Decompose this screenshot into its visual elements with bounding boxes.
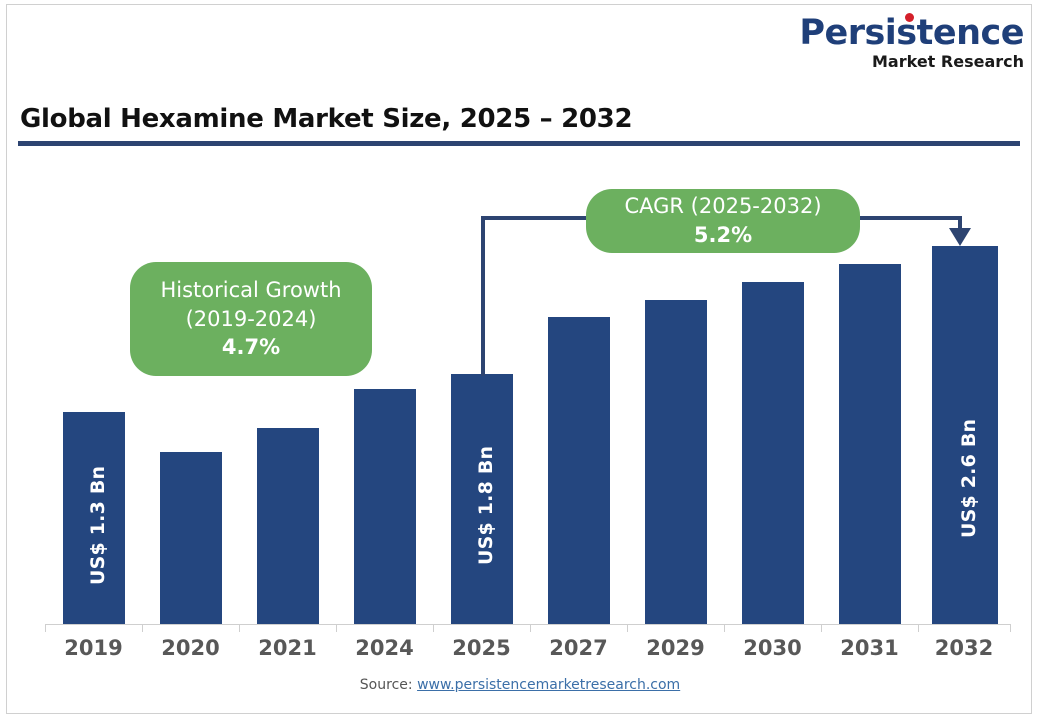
source-link[interactable]: www.persistencemarketresearch.com <box>417 677 680 693</box>
bar-2031 <box>839 264 901 624</box>
x-label-2031: 2031 <box>821 636 918 660</box>
x-axis-tick <box>1010 624 1011 632</box>
x-label-2019: 2019 <box>45 636 142 660</box>
x-label-2024: 2024 <box>336 636 433 660</box>
x-label-2032: 2032 <box>918 636 1010 660</box>
bar-chart: US$ 1.3 Bn US$ 1.8 Bn US$ 2.6 Bn 2019 20… <box>0 0 1040 720</box>
historical-growth-title: Historical Growth <box>160 276 341 305</box>
bar-value-2032: US$ 2.6 Bn <box>958 419 980 538</box>
bar-value-2025: US$ 1.8 Bn <box>475 446 497 565</box>
x-axis-tick <box>530 624 531 632</box>
historical-growth-value: 4.7% <box>222 333 280 362</box>
bar-2029 <box>645 300 707 624</box>
x-axis-tick <box>433 624 434 632</box>
x-axis-tick <box>821 624 822 632</box>
x-label-2027: 2027 <box>530 636 627 660</box>
cagr-title: CAGR (2025-2032) <box>624 192 821 221</box>
bar-value-2019: US$ 1.3 Bn <box>87 466 109 585</box>
cagr-arrow-icon <box>949 228 971 246</box>
x-axis-tick <box>239 624 240 632</box>
bar-2027 <box>548 317 610 624</box>
x-label-2030: 2030 <box>724 636 821 660</box>
bar-2021 <box>257 428 319 624</box>
x-axis-line <box>45 624 1010 625</box>
x-label-2020: 2020 <box>142 636 239 660</box>
historical-growth-callout: Historical Growth (2019-2024) 4.7% <box>130 262 372 376</box>
x-axis-tick <box>627 624 628 632</box>
x-axis-tick <box>45 624 46 632</box>
historical-growth-period: (2019-2024) <box>186 305 317 334</box>
x-label-2029: 2029 <box>627 636 724 660</box>
x-label-2025: 2025 <box>433 636 530 660</box>
x-label-2021: 2021 <box>239 636 336 660</box>
cagr-value: 5.2% <box>694 221 752 250</box>
x-axis-tick <box>724 624 725 632</box>
bar-2030 <box>742 282 804 624</box>
cagr-connector-left <box>481 216 485 376</box>
cagr-callout: CAGR (2025-2032) 5.2% <box>586 189 860 253</box>
x-axis-tick <box>918 624 919 632</box>
bar-2024 <box>354 389 416 624</box>
source-line: Source: www.persistencemarketresearch.co… <box>0 677 1040 693</box>
source-prefix: Source: <box>360 677 417 693</box>
bar-2020 <box>160 452 222 624</box>
x-axis-tick <box>142 624 143 632</box>
x-axis-tick <box>336 624 337 632</box>
chart-page: Persistence Market Research Global Hexam… <box>0 0 1040 720</box>
